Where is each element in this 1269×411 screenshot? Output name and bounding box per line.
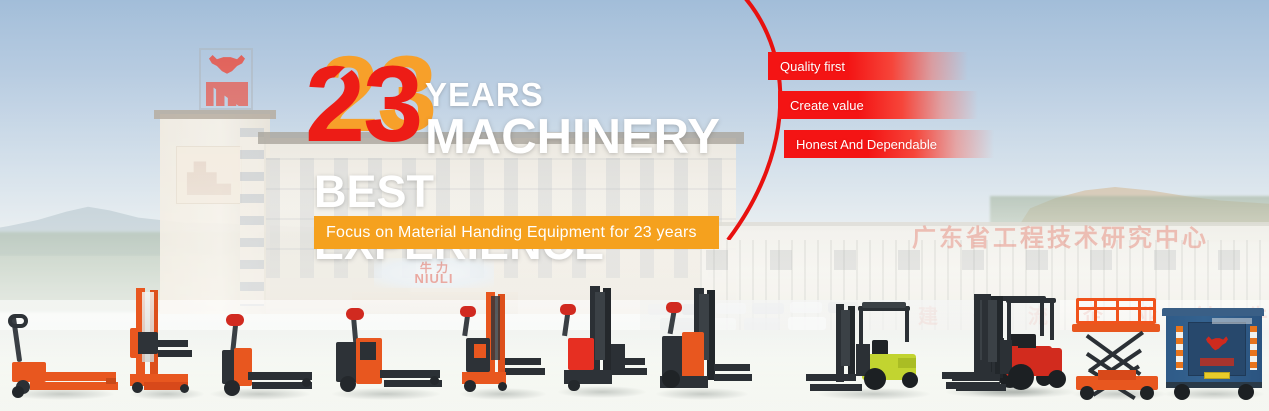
- badge-quality-first[interactable]: Quality first: [768, 52, 968, 80]
- equipment-manual-hydraulic-stacker: [128, 288, 206, 400]
- years-number: 23 23 23: [305, 44, 445, 152]
- badge-honest-and-dependable-label: Honest And Dependable: [794, 137, 937, 152]
- equipment-electric-pallet-truck-standing: [208, 318, 314, 400]
- headline-block: 23 23 23 YEARS MACHINERY BEST EXPERIENCE…: [305, 44, 705, 254]
- tagline-text: Focus on Material Handing Equipment for …: [314, 224, 697, 242]
- equipment-scissor-lift-platform: [1068, 298, 1168, 400]
- equipment-electric-counterbalance-forklift: [812, 300, 932, 400]
- equipment-delivery-box-truck: [1160, 306, 1266, 400]
- equipment-electric-pallet-truck-rider: [330, 312, 444, 400]
- equipment-semi-electric-stacker: [458, 292, 550, 400]
- equipment-diesel-forklift-red-visual: [962, 294, 1078, 400]
- red-arc-decoration: [700, 0, 830, 240]
- badge-create-value-label: Create value: [788, 98, 864, 113]
- equipment-full-electric-stacker-red: [556, 286, 648, 400]
- machinery-label: MACHINERY: [425, 109, 720, 165]
- equipment-walkie-straddle-stacker: [654, 288, 752, 400]
- badge-honest-and-dependable[interactable]: Honest And Dependable: [784, 130, 994, 158]
- hero-banner: 牛 力 NIULI 广东省工程技术研究中心 建 一 流 企 业 创 牛 力: [0, 0, 1269, 411]
- badge-create-value[interactable]: Create value: [778, 91, 978, 119]
- equipment-manual-hand-pallet-truck: [6, 316, 116, 400]
- tagline-bar: Focus on Material Handing Equipment for …: [314, 216, 719, 249]
- badge-quality-first-label: Quality first: [778, 59, 845, 74]
